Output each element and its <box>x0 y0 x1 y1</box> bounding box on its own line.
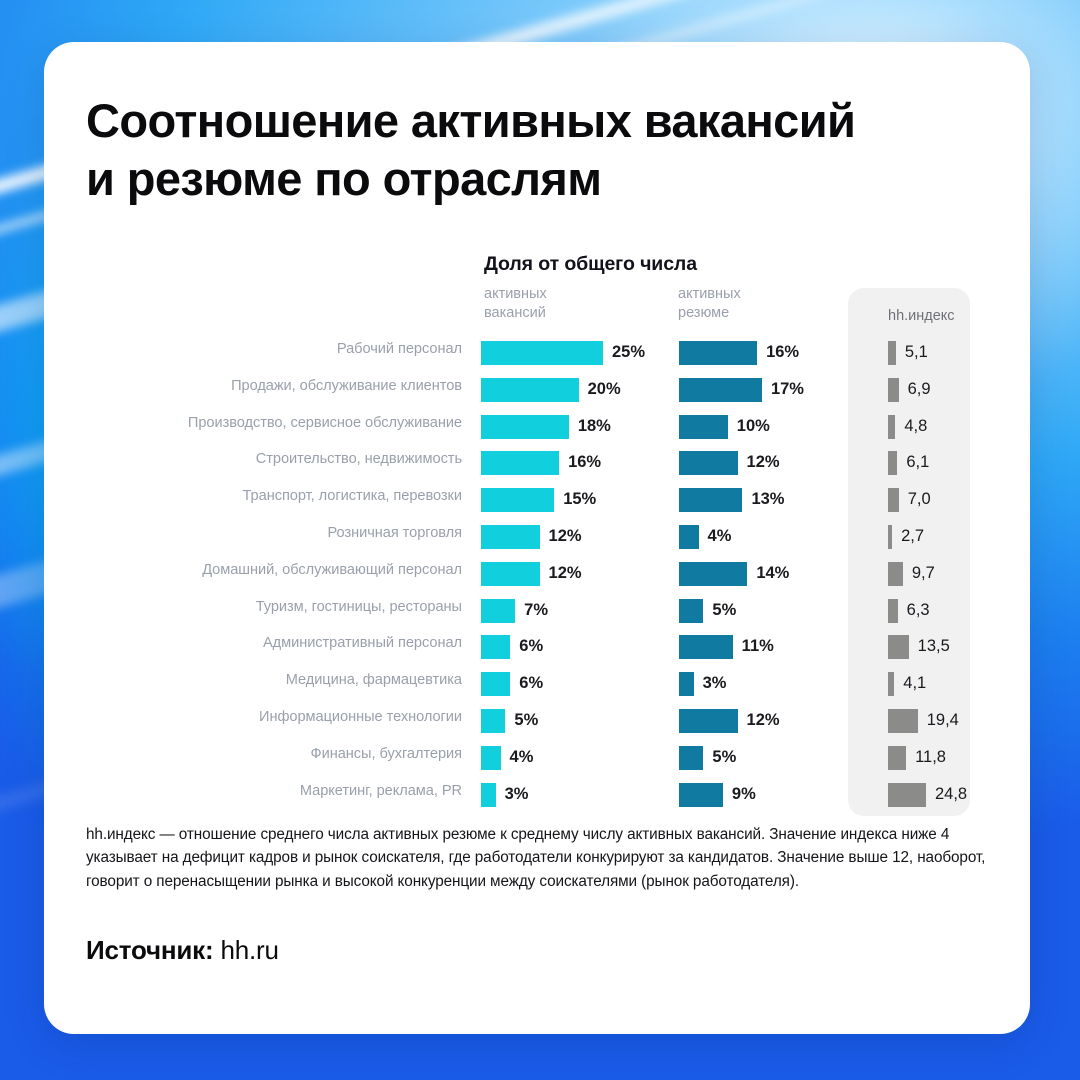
index-bar <box>888 783 926 807</box>
index-bar <box>888 562 903 586</box>
footnote-text: hh.индекс — отношение среднего числа акт… <box>86 823 994 893</box>
resumes-value: 14% <box>756 564 789 583</box>
vacancies-bar <box>481 525 540 549</box>
index-value: 4,1 <box>903 674 926 693</box>
category-label: Медицина, фармацевтика <box>286 672 462 688</box>
source-label: Источник: <box>86 935 213 965</box>
column-header-vacancies-line-1: активных <box>484 285 547 304</box>
category-label: Производство, сервисное обслуживание <box>188 415 462 431</box>
chart-row: Маркетинг, реклама, PR3%9%24,8 <box>44 779 1030 816</box>
chart-row: Домашний, обслуживающий персонал12%14%9,… <box>44 558 1030 595</box>
resumes-bar <box>679 635 733 659</box>
column-header-resumes: активных резюме <box>678 285 741 324</box>
resumes-bar <box>679 415 728 439</box>
index-value: 19,4 <box>927 711 959 730</box>
source-value: hh.ru <box>220 935 278 965</box>
infographic-card: Соотношение активных вакансий и резюме п… <box>44 42 1030 1034</box>
vacancies-value: 12% <box>549 527 582 546</box>
chart-row: Административный персонал6%11%13,5 <box>44 631 1030 668</box>
index-bar <box>888 378 899 402</box>
resumes-value: 17% <box>771 380 804 399</box>
resumes-value: 10% <box>737 417 770 436</box>
index-value: 9,7 <box>912 564 935 583</box>
resumes-bar <box>679 709 738 733</box>
index-bar <box>888 451 897 475</box>
chart-subtitle: Доля от общего числа <box>484 253 697 276</box>
index-bar <box>888 525 892 549</box>
page-title: Соотношение активных вакансий и резюме п… <box>86 92 986 208</box>
vacancies-value: 18% <box>578 417 611 436</box>
category-label: Транспорт, логистика, перевозки <box>243 488 462 504</box>
vacancies-bar <box>481 415 569 439</box>
resumes-bar <box>679 783 723 807</box>
category-label: Розничная торговля <box>328 525 463 541</box>
vacancies-bar <box>481 562 540 586</box>
resumes-bar <box>679 672 694 696</box>
index-value: 6,1 <box>906 453 929 472</box>
index-value: 4,8 <box>904 417 927 436</box>
category-label: Финансы, бухгалтерия <box>311 746 462 762</box>
column-header-vacancies: активных вакансий <box>484 285 547 324</box>
resumes-bar <box>679 562 747 586</box>
vacancies-value: 25% <box>612 343 645 362</box>
vacancies-value: 16% <box>568 453 601 472</box>
index-value: 6,9 <box>908 380 931 399</box>
vacancies-value: 20% <box>588 380 621 399</box>
vacancies-bar <box>481 599 515 623</box>
vacancies-bar <box>481 709 505 733</box>
vacancies-bar <box>481 635 510 659</box>
source-line: Источник: hh.ru <box>86 935 279 966</box>
column-header-index: hh.индекс <box>888 308 955 324</box>
column-header-vacancies-line-2: вакансий <box>484 304 547 323</box>
category-label: Домашний, обслуживающий персонал <box>202 562 462 578</box>
category-label: Рабочий персонал <box>337 341 462 357</box>
column-header-resumes-line-1: активных <box>678 285 741 304</box>
category-label: Строительство, недвижимость <box>256 451 462 467</box>
chart-row: Рабочий персонал25%16%5,1 <box>44 337 1030 374</box>
category-label: Продажи, обслуживание клиентов <box>231 378 462 394</box>
resumes-bar <box>679 525 699 549</box>
vacancies-bar <box>481 672 510 696</box>
chart-rows: Рабочий персонал25%16%5,1Продажи, обслуж… <box>44 337 1030 815</box>
resumes-bar <box>679 599 703 623</box>
chart-row: Финансы, бухгалтерия4%5%11,8 <box>44 742 1030 779</box>
index-bar <box>888 746 906 770</box>
chart-row: Туризм, гостиницы, рестораны7%5%6,3 <box>44 595 1030 632</box>
resumes-value: 16% <box>766 343 799 362</box>
vacancies-bar <box>481 341 603 365</box>
index-value: 11,8 <box>915 748 946 767</box>
resumes-bar <box>679 451 738 475</box>
chart-row: Информационные технологии5%12%19,4 <box>44 705 1030 742</box>
resumes-value: 3% <box>703 674 727 693</box>
index-value: 24,8 <box>935 785 967 804</box>
category-label: Маркетинг, реклама, PR <box>300 783 462 799</box>
index-value: 13,5 <box>918 637 950 656</box>
index-bar <box>888 415 895 439</box>
index-value: 5,1 <box>905 343 928 362</box>
chart-row: Транспорт, логистика, перевозки15%13%7,0 <box>44 484 1030 521</box>
vacancies-bar <box>481 746 501 770</box>
chart-row: Розничная торговля12%4%2,7 <box>44 521 1030 558</box>
resumes-bar <box>679 488 742 512</box>
vacancies-bar <box>481 488 554 512</box>
page-title-line-1: Соотношение активных вакансий <box>86 92 986 150</box>
vacancies-value: 15% <box>563 490 596 509</box>
resumes-bar <box>679 341 757 365</box>
vacancies-value: 6% <box>519 674 543 693</box>
resumes-bar <box>679 378 762 402</box>
vacancies-value: 12% <box>549 564 582 583</box>
resumes-value: 12% <box>747 711 780 730</box>
resumes-value: 11% <box>742 637 774 656</box>
vacancies-value: 3% <box>505 785 529 804</box>
resumes-bar <box>679 746 703 770</box>
vacancies-value: 7% <box>524 601 548 620</box>
resumes-value: 5% <box>712 748 736 767</box>
resumes-value: 4% <box>708 527 732 546</box>
chart-row: Строительство, недвижимость16%12%6,1 <box>44 447 1030 484</box>
resumes-value: 13% <box>751 490 784 509</box>
chart-row: Производство, сервисное обслуживание18%1… <box>44 411 1030 448</box>
chart-row: Продажи, обслуживание клиентов20%17%6,9 <box>44 374 1030 411</box>
index-bar <box>888 599 898 623</box>
vacancies-bar <box>481 378 579 402</box>
resumes-value: 12% <box>747 453 780 472</box>
index-value: 2,7 <box>901 527 924 546</box>
column-header-resumes-line-2: резюме <box>678 304 741 323</box>
vacancies-value: 5% <box>514 711 538 730</box>
vacancies-value: 6% <box>519 637 543 656</box>
index-bar <box>888 341 896 365</box>
index-bar <box>888 672 894 696</box>
index-value: 6,3 <box>907 601 930 620</box>
resumes-value: 9% <box>732 785 756 804</box>
index-bar <box>888 635 909 659</box>
vacancies-bar <box>481 451 559 475</box>
page-title-line-2: и резюме по отраслям <box>86 150 986 208</box>
category-label: Туризм, гостиницы, рестораны <box>256 599 462 615</box>
index-value: 7,0 <box>908 490 931 509</box>
index-bar <box>888 488 899 512</box>
chart-row: Медицина, фармацевтика6%3%4,1 <box>44 668 1030 705</box>
vacancies-value: 4% <box>510 748 534 767</box>
vacancies-bar <box>481 783 496 807</box>
resumes-value: 5% <box>712 601 736 620</box>
index-bar <box>888 709 918 733</box>
category-label: Административный персонал <box>263 635 462 651</box>
category-label: Информационные технологии <box>259 709 462 725</box>
